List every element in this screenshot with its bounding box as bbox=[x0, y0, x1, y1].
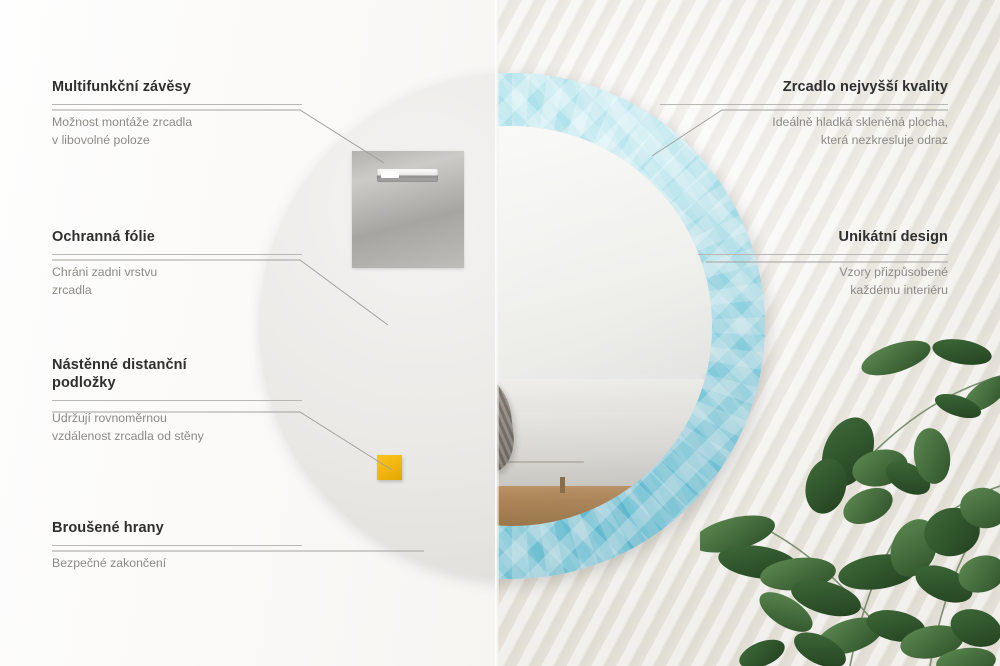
callout-title: Ochranná fólie bbox=[52, 228, 302, 246]
callout-description: Ideálně hladká skleněná plocha, která ne… bbox=[660, 114, 948, 150]
plant-leaves-icon bbox=[700, 336, 1000, 666]
sofa-seat bbox=[497, 412, 712, 486]
callout-title: Nástěnné distanční podložky bbox=[52, 356, 302, 392]
spacer-pad-icon bbox=[377, 455, 402, 480]
callout-rule bbox=[52, 400, 302, 401]
callout-rule bbox=[52, 254, 302, 255]
reflected-sofa bbox=[497, 342, 712, 526]
callout-description: Možnost montáže zrcadla v libovolné polo… bbox=[52, 114, 302, 150]
hanger-slot-icon bbox=[377, 169, 438, 182]
callout-title: Zrcadlo nejvyšší kvality bbox=[660, 78, 948, 96]
panel-split-seam bbox=[495, 0, 499, 666]
callout-rule bbox=[52, 545, 302, 546]
callout-nastenne-distancni-podlozky[interactable]: Nástěnné distanční podložky Udržují rovn… bbox=[52, 356, 302, 446]
callout-description: Bezpečné zakončení bbox=[52, 555, 302, 573]
callout-description: Udržují rovnoměrnou vzdálenost zrcadla o… bbox=[52, 410, 302, 446]
hanger-plate bbox=[352, 151, 464, 268]
mirror-glass bbox=[497, 126, 712, 526]
sofa-leg bbox=[560, 477, 565, 493]
callout-description: Vzory přizpůsobené každému interiéru bbox=[698, 264, 948, 300]
callout-title: Broušené hrany bbox=[52, 519, 302, 537]
callout-unikatni-design[interactable]: Unikátní design Vzory přizpůsobené každé… bbox=[698, 228, 948, 300]
callout-zrcadlo-nejvyssi-kvality[interactable]: Zrcadlo nejvyšší kvality Ideálně hladká … bbox=[660, 78, 948, 150]
callout-rule bbox=[660, 104, 948, 105]
callout-rule bbox=[698, 254, 948, 255]
infographic-stage: Multifunkční závěsy Možnost montáže zrca… bbox=[0, 0, 1000, 666]
callout-brousene-hrany[interactable]: Broušené hrany Bezpečné zakončení bbox=[52, 519, 302, 573]
callout-title: Unikátní design bbox=[698, 228, 948, 246]
callout-description: Chráni zadni vrstvu zrcadla bbox=[52, 264, 302, 300]
callout-title: Multifunkční závěsy bbox=[52, 78, 302, 96]
reflected-wall bbox=[497, 126, 712, 374]
callout-rule bbox=[52, 104, 302, 105]
callout-ochranna-folie[interactable]: Ochranná fólie Chráni zadni vrstvu zrcad… bbox=[52, 228, 302, 300]
callout-multifunkcni-zavesy[interactable]: Multifunkční závěsy Možnost montáže zrca… bbox=[52, 78, 302, 150]
